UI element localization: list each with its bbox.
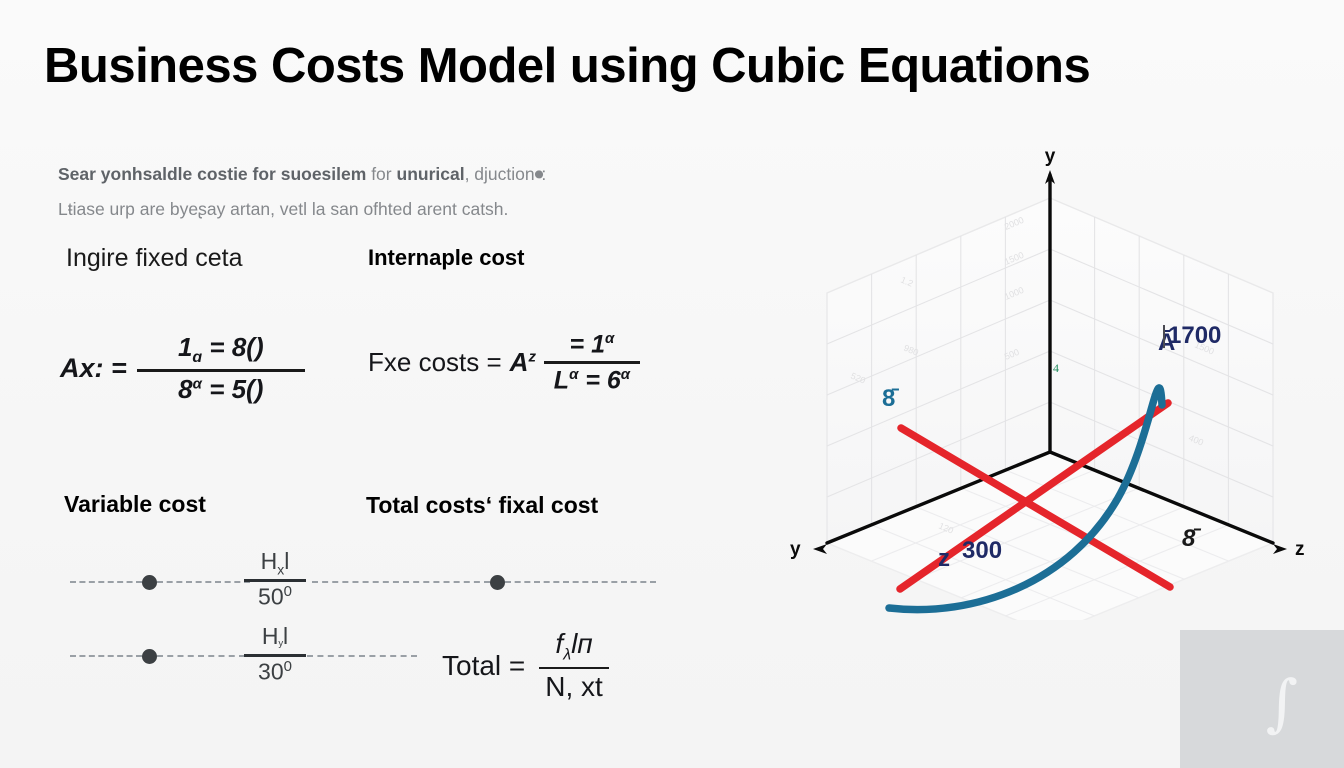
variable-cost-row-1 bbox=[70, 581, 656, 583]
eq1-num-b: = 8() bbox=[209, 332, 263, 362]
eq1-lhs: Ax: = bbox=[60, 353, 127, 384]
total-num-b: lп bbox=[571, 628, 593, 659]
annotation-value-300: 300 bbox=[962, 537, 1002, 564]
eq1-den-a: 8 bbox=[178, 374, 192, 404]
row1-num-tail: l bbox=[284, 548, 289, 574]
axis-label-z-right: z bbox=[1295, 539, 1305, 560]
bullet-dot bbox=[142, 649, 157, 664]
integral-icon: ∫ bbox=[1266, 672, 1298, 734]
eq2-coef-sup: z bbox=[528, 348, 536, 365]
row2-numerator: Hʸl bbox=[262, 623, 288, 653]
dash-segment bbox=[157, 581, 251, 583]
dash-segment bbox=[157, 655, 245, 657]
total-fraction: fλlп N, xt bbox=[537, 628, 611, 703]
row2-den: 30 bbox=[258, 658, 284, 684]
equation-fixed-cost: Ax: = 1ɑ = 8() 8α = 5() bbox=[60, 332, 305, 405]
eq1-den-sup: α bbox=[193, 375, 202, 392]
dash-segment bbox=[307, 655, 417, 657]
bullet-dot bbox=[142, 575, 157, 590]
equation-total: Total = fλlп N, xt bbox=[442, 628, 611, 703]
eq2-coefficient: Az bbox=[510, 347, 536, 378]
eq1-num-a: 1 bbox=[178, 332, 192, 362]
equation-internal-cost: Fxe costs = Az = 1α Lα = 6α bbox=[368, 330, 640, 395]
eq2-num-a: = 1 bbox=[570, 330, 605, 358]
eq2-coef: A bbox=[510, 347, 529, 377]
heading-variable-cost: Variable cost bbox=[64, 491, 206, 518]
row1-fraction-bar bbox=[244, 579, 306, 582]
corner-fold-shape bbox=[1180, 630, 1344, 768]
eq2-den-sup-1: α bbox=[569, 366, 578, 383]
row2-num: H bbox=[262, 623, 279, 649]
heading-fixed-cost: Ingire fixed ceta bbox=[66, 244, 243, 273]
row1-denominator: 500 bbox=[258, 583, 292, 611]
bullet-dot bbox=[490, 575, 505, 590]
total-numerator: fλlп bbox=[547, 628, 600, 667]
dash-segment bbox=[70, 655, 142, 657]
eq2-num-sup: α bbox=[605, 330, 614, 347]
eq1-numerator: 1ɑ = 8() bbox=[170, 332, 272, 369]
total-num-sub: λ bbox=[563, 647, 571, 664]
row2-num-tail: l bbox=[283, 623, 288, 649]
tiny-mark-icon: 4 bbox=[1053, 361, 1059, 375]
total-denominator: N, xt bbox=[537, 669, 611, 703]
total-lhs: Total = bbox=[442, 650, 525, 682]
dash-segment bbox=[70, 581, 142, 583]
row2-den-sup: 0 bbox=[284, 658, 292, 675]
corner-watermark: ∫ bbox=[1180, 630, 1344, 768]
eq2-numerator: = 1α bbox=[562, 330, 623, 361]
row2-denominator: 300 bbox=[258, 658, 292, 686]
row1-num: H bbox=[261, 548, 278, 574]
eq1-denominator: 8α = 5() bbox=[170, 372, 271, 405]
axis-label-y-left: y bbox=[790, 539, 801, 560]
variable-cost-fraction-2: Hʸl 300 bbox=[244, 623, 306, 685]
chart-svg: 2000 1500 1000 500 1.2 980 520 1500 400 … bbox=[770, 150, 1330, 620]
eq2-den-sup-2: α bbox=[621, 366, 630, 383]
slide-root: Business Costs Model using Cubic Equatio… bbox=[0, 0, 1344, 768]
row2-fraction-bar bbox=[244, 654, 306, 657]
annotation-axis-tag-z: z bbox=[938, 545, 950, 572]
dash-segment bbox=[505, 581, 656, 583]
heading-internal-cost: Internaple cost bbox=[368, 245, 524, 271]
cubic-cost-3d-chart: 2000 1500 1000 500 1.2 980 520 1500 400 … bbox=[770, 150, 1330, 620]
eq1-num-sub: ɑ bbox=[192, 349, 202, 366]
row1-den-sup: 0 bbox=[284, 583, 292, 600]
eq1-fraction: 1ɑ = 8() 8α = 5() bbox=[137, 332, 305, 405]
left-content-column: Ingire fixed ceta Internaple cost Ax: = … bbox=[0, 0, 720, 768]
eq2-fraction: = 1α Lα = 6α bbox=[544, 330, 640, 395]
eq2-den-a: L bbox=[554, 366, 569, 394]
eq2-lhs: Fxe costs = bbox=[368, 347, 502, 378]
dash-segment bbox=[312, 581, 489, 583]
variable-cost-fraction-1: Hxl 500 bbox=[244, 548, 306, 610]
row1-numerator: Hxl bbox=[261, 548, 290, 578]
eq2-denominator: Lα = 6α bbox=[546, 364, 638, 395]
eq1-den-b: = 5() bbox=[209, 374, 263, 404]
annotation-value-1700: 1700 bbox=[1168, 322, 1221, 349]
row1-den: 50 bbox=[258, 583, 284, 609]
axis-label-y-top: y bbox=[1045, 150, 1056, 167]
heading-total-cost: Total costs‘ fixal cost bbox=[366, 492, 598, 519]
eq2-den-b: = 6 bbox=[585, 366, 620, 394]
